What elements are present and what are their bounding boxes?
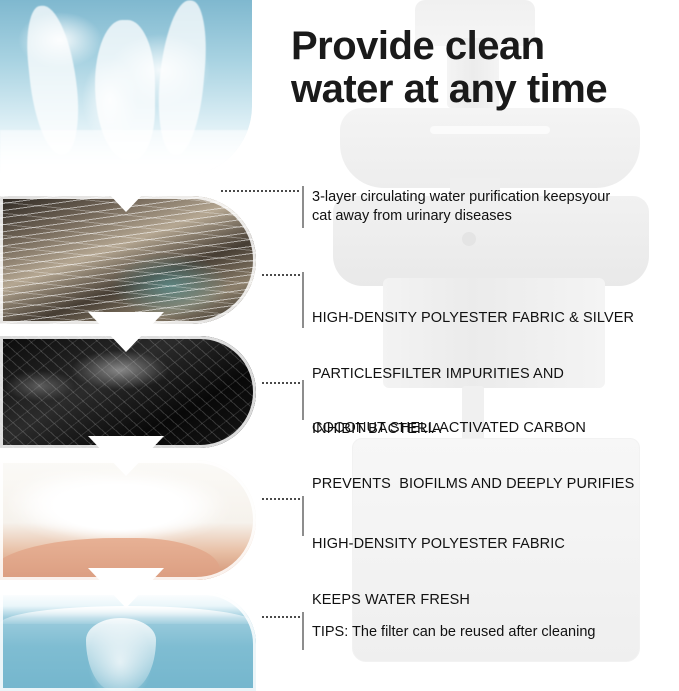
annotation-line: TIPS: The filter can be reused after cle… bbox=[312, 623, 674, 642]
annotation-text: 3-layer circulating water purification k… bbox=[312, 188, 672, 225]
flow-arrow-icon bbox=[88, 436, 164, 476]
annotation-line: PARTICLESFILTER IMPURITIES AND bbox=[312, 365, 674, 384]
annotation-line: HIGH-DENSITY POLYESTER FABRIC bbox=[312, 535, 674, 554]
leader-line bbox=[262, 274, 300, 277]
annotation-bar bbox=[302, 496, 304, 536]
annotation-line: KEEPS WATER FRESH bbox=[312, 591, 674, 610]
headline-line-2: water at any time bbox=[291, 68, 679, 111]
annotation-bar bbox=[302, 380, 304, 420]
annotation-bar bbox=[302, 186, 304, 228]
leader-line bbox=[221, 190, 299, 193]
annotation-line: 3-layer circulating water purification k… bbox=[312, 188, 672, 207]
ghost-fountain-bowl bbox=[340, 108, 640, 188]
panel-silver-polyester-fibre bbox=[0, 196, 256, 324]
headline-line-1: Provide clean bbox=[291, 25, 679, 68]
cotton-fluff bbox=[4, 466, 234, 548]
annotation-line: PREVENTS BIOFILMS AND DEEPLY PURIFIES bbox=[312, 475, 674, 494]
product-infographic: Provide clean water at any time 3-layer … bbox=[0, 0, 679, 691]
leader-line bbox=[262, 616, 300, 619]
panel-outline bbox=[0, 196, 256, 324]
annotation-text: TIPS: The filter can be reused after cle… bbox=[312, 623, 674, 642]
flow-arrow-icon bbox=[88, 568, 164, 608]
annotation-bar bbox=[302, 272, 304, 328]
flow-arrow-icon bbox=[88, 172, 164, 212]
water-vortex bbox=[86, 618, 156, 691]
flow-arrow-icon bbox=[88, 312, 164, 352]
panel-cotton-fabric bbox=[0, 460, 256, 580]
leader-line bbox=[262, 498, 300, 501]
panel-activated-carbon bbox=[0, 336, 256, 448]
ghost-fountain-bowl-slot bbox=[430, 126, 550, 134]
leader-line bbox=[262, 382, 300, 385]
page-title: Provide clean water at any time bbox=[291, 25, 679, 111]
annotation-line: HIGH-DENSITY POLYESTER FABRIC & SILVER bbox=[312, 309, 674, 328]
splash-base bbox=[0, 130, 252, 176]
panel-water-splash bbox=[0, 0, 252, 176]
annotation-line: cat away from urinary diseases bbox=[312, 207, 672, 226]
panel-outline bbox=[0, 336, 256, 448]
annotation-line: COCONUT SHELL ACTIVATED CARBON bbox=[312, 419, 674, 438]
ghost-fountain-tray-dot bbox=[462, 232, 476, 246]
annotation-bar bbox=[302, 612, 304, 650]
